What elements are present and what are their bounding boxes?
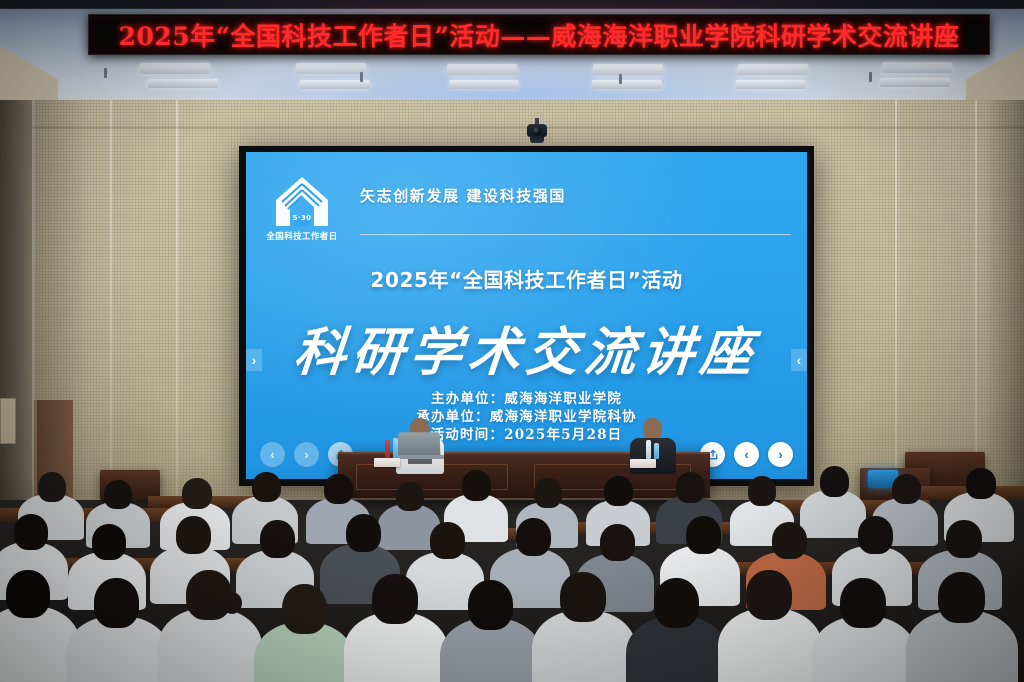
slide-meta-line: 主办单位：威海海洋职业学院 xyxy=(246,390,807,408)
slide-subtitle: 2025年“全国科技工作者日”活动 xyxy=(246,264,807,293)
logo-badge-text: 5·30 xyxy=(268,214,336,222)
audience-head xyxy=(966,468,996,499)
audience-head xyxy=(686,516,721,554)
national-science-workers-day-logo-icon: 5·30 全国科技工作者日 xyxy=(268,174,336,240)
audience-head xyxy=(104,480,132,509)
audience-head xyxy=(346,514,381,552)
wall-panel-seam xyxy=(975,100,977,500)
audience-head xyxy=(38,472,66,502)
audience-head xyxy=(176,516,211,554)
audience-head xyxy=(260,520,295,558)
led-banner: 2025年“全国科技工作者日”活动——威海海洋职业学院科研学术交流讲座 xyxy=(88,14,990,55)
water-bottle xyxy=(385,440,390,458)
audience-head xyxy=(938,572,985,623)
ceiling-light-fixture xyxy=(140,63,210,74)
wall-access-panel xyxy=(0,398,16,444)
slide-title: 科研学术交流讲座 xyxy=(246,310,807,385)
ceiling-sensor xyxy=(360,72,363,82)
ceiling-light-fixture xyxy=(148,79,218,88)
audience-member xyxy=(800,490,866,538)
audience-head xyxy=(820,466,849,497)
hair-bun xyxy=(222,592,242,614)
slide-slogan: 矢志创新发展 建设科技强国 xyxy=(360,185,566,206)
ceiling-light-fixture xyxy=(738,64,808,75)
wall-panel-seam xyxy=(895,100,897,500)
audience-head xyxy=(92,524,126,560)
wall-panel-seam xyxy=(110,100,112,500)
water-bottle xyxy=(654,443,659,459)
wall-trim-band xyxy=(0,126,1024,129)
wall-shadow-right xyxy=(984,100,1024,500)
audience-head xyxy=(396,482,424,511)
audience-head xyxy=(282,584,327,634)
ceiling-light-fixture xyxy=(296,63,366,74)
audience-head xyxy=(94,578,139,628)
audience-head xyxy=(252,472,281,502)
prev-button[interactable]: ‹ xyxy=(734,442,759,467)
audience-head xyxy=(6,570,50,618)
audience-head xyxy=(468,580,513,630)
next-button[interactable]: › xyxy=(294,442,319,467)
audience-head xyxy=(840,578,886,628)
ceiling-sensor xyxy=(869,72,872,82)
ceiling-light-fixture xyxy=(882,62,952,73)
ceiling-sensor xyxy=(619,74,622,84)
audience-head xyxy=(430,522,465,559)
laptop-base xyxy=(394,455,444,459)
camera-base xyxy=(530,136,544,143)
audience-head xyxy=(182,478,212,509)
audience-head xyxy=(946,520,982,558)
ceiling-light-glow xyxy=(120,50,910,105)
audience-head xyxy=(654,578,699,628)
audience-head xyxy=(372,574,418,624)
ceiling-light-fixture xyxy=(592,80,662,89)
room-interior: 2025年“全国科技工作者日”活动——威海海洋职业学院科研学术交流讲座 xyxy=(0,0,1024,682)
audience-head xyxy=(746,570,792,620)
speaker-head xyxy=(643,418,662,440)
laptop-screen xyxy=(398,432,441,456)
audience-head xyxy=(892,474,921,504)
audience-head xyxy=(748,476,776,506)
water-bottle xyxy=(393,438,398,458)
slide-header-divider xyxy=(360,234,791,235)
audience-head xyxy=(772,522,807,559)
audience-head xyxy=(676,472,705,503)
camera-lens-icon xyxy=(533,127,541,135)
ceiling-light-fixture xyxy=(736,80,806,89)
viewer-controls-right: ‹ › xyxy=(700,442,793,467)
audience-head xyxy=(604,476,633,506)
audience-head xyxy=(516,518,551,556)
ceiling-light-fixture xyxy=(447,64,517,75)
edge-expand-right-icon[interactable]: › xyxy=(246,349,262,371)
audience-head xyxy=(14,514,48,550)
audience-head xyxy=(600,524,635,561)
slide-meta: 主办单位：威海海洋职业学院 承办单位：威海海洋职业学院科协 活动时间：2025年… xyxy=(246,390,807,444)
audience-head xyxy=(560,572,606,622)
ceiling-light-fixture xyxy=(449,80,519,89)
ceiling-light-fixture xyxy=(880,78,950,87)
led-banner-text: 2025年“全国科技工作者日”活动——威海海洋职业学院科研学术交流讲座 xyxy=(119,17,960,53)
next-button[interactable]: › xyxy=(768,442,793,467)
audience-head xyxy=(858,516,893,554)
slide-meta-line: 承办单位：威海海洋职业学院科协 xyxy=(246,408,807,426)
water-bottle xyxy=(646,440,651,459)
audience-head xyxy=(534,478,562,508)
audience-head xyxy=(324,474,353,504)
lecture-hall-photo: 2025年“全国科技工作者日”活动——威海海洋职业学院科研学术交流讲座 xyxy=(0,0,1024,682)
ceiling-ptz-camera xyxy=(527,118,547,144)
projection-screen: 5·30 全国科技工作者日 矢志创新发展 建设科技强国 2025年“全国科技工作… xyxy=(246,152,807,479)
slide-header: 5·30 全国科技工作者日 矢志创新发展 建设科技强国 xyxy=(268,174,795,236)
ceiling-light-fixture xyxy=(593,64,663,75)
edge-collapse-left-icon[interactable]: ‹ xyxy=(791,349,807,371)
ceiling-sensor xyxy=(104,68,107,78)
logo-caption: 全国科技工作者日 xyxy=(263,230,341,242)
audience-head xyxy=(462,470,491,501)
audience-area xyxy=(0,466,1024,682)
wall-panel-seam xyxy=(176,100,178,500)
prev-button[interactable]: ‹ xyxy=(260,442,285,467)
